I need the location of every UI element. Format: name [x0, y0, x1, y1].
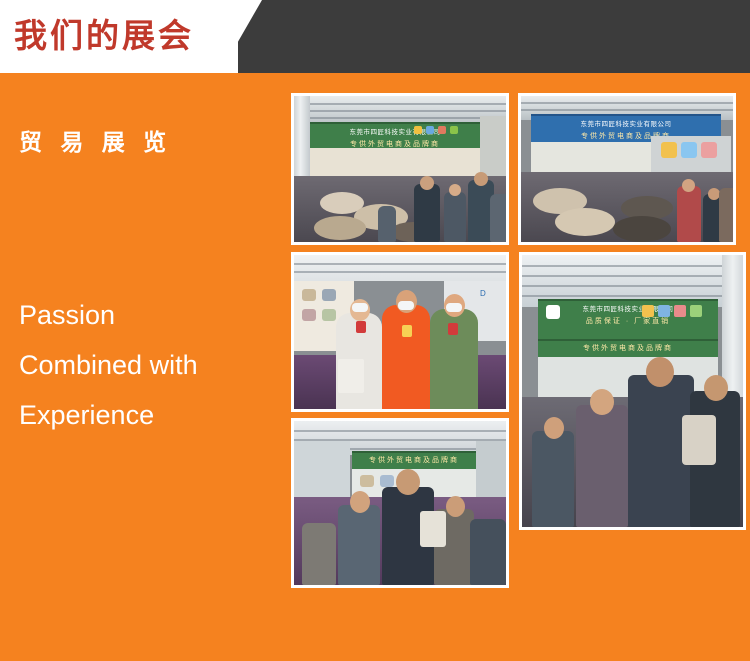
- photo-booth-overview-1: 东莞市四匠科技实业有限公司 专供外贸电商及品牌商: [291, 93, 509, 245]
- banner-extra-4: 品质保证 · 厂家直销: [538, 316, 718, 326]
- photo-team-portrait: D: [291, 252, 509, 412]
- tagline-line-2: Combined with: [19, 340, 269, 390]
- banner-slogan-4: 专供外贸电商及品牌商: [538, 343, 718, 353]
- page-title: 我们的展会: [14, 14, 194, 58]
- poster-root: 我们的展会 贸 易 展 览 Passion Combined with Expe…: [0, 0, 750, 661]
- banner-slogan-5: 专供外贸电商及品牌商: [352, 455, 476, 465]
- photo-booth-overview-2: 东莞市四匠科技实业有限公司 专供外贸电商及品牌商: [518, 93, 736, 245]
- photo-booth-tall: 东莞市四匠科技实业有限公司 品质保证 · 厂家直销 专供外贸电商及品牌商: [519, 252, 746, 530]
- header-tab-slant-shape: [220, 0, 262, 73]
- banner-company-2: 东莞市四匠科技实业有限公司: [531, 118, 721, 128]
- tagline-line-1: Passion: [19, 290, 269, 340]
- photo-booth-crowd: 专供外贸电商及品牌商: [291, 418, 509, 588]
- tagline: Passion Combined with Experience: [19, 290, 269, 440]
- section-subtitle: 贸 易 展 览: [19, 123, 172, 157]
- tagline-line-3: Experience: [19, 390, 269, 440]
- header-bar: 我们的展会: [0, 0, 750, 73]
